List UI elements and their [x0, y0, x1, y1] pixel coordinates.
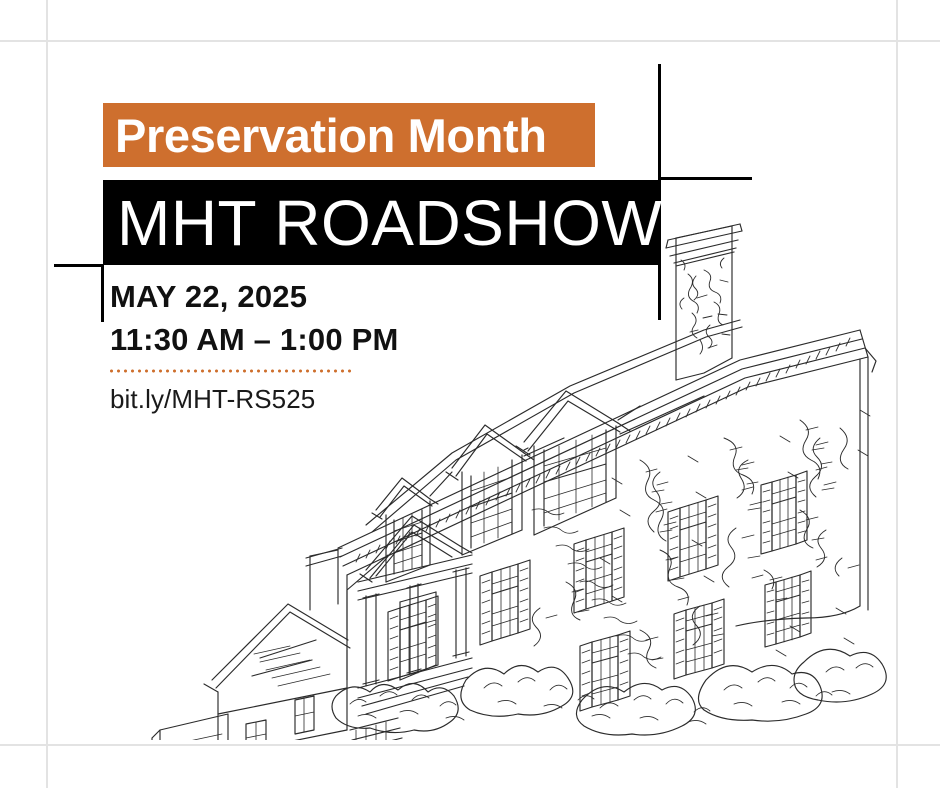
event-title: MHT ROADSHOW: [103, 191, 662, 255]
guide-line-vertical-left: [46, 0, 48, 788]
poster-canvas: Preservation Month MHT ROADSHOW MAY 22, …: [0, 0, 940, 788]
event-url[interactable]: bit.ly/MHT-RS525: [110, 384, 315, 415]
rule-mark-right-horizontal: [658, 177, 752, 180]
dotted-divider: [108, 369, 351, 373]
guide-line-horizontal-bottom: [0, 744, 940, 746]
preservation-month-label: Preservation Month: [103, 112, 547, 159]
event-date: MAY 22, 2025: [110, 279, 307, 315]
event-title-banner: MHT ROADSHOW: [103, 180, 659, 265]
preservation-month-banner: Preservation Month: [103, 103, 595, 167]
rule-mark-left-horizontal: [54, 264, 103, 267]
rule-mark-left-vertical: [101, 264, 104, 322]
event-time: 11:30 AM – 1:00 PM: [110, 322, 398, 358]
guide-line-horizontal-top: [0, 40, 940, 42]
